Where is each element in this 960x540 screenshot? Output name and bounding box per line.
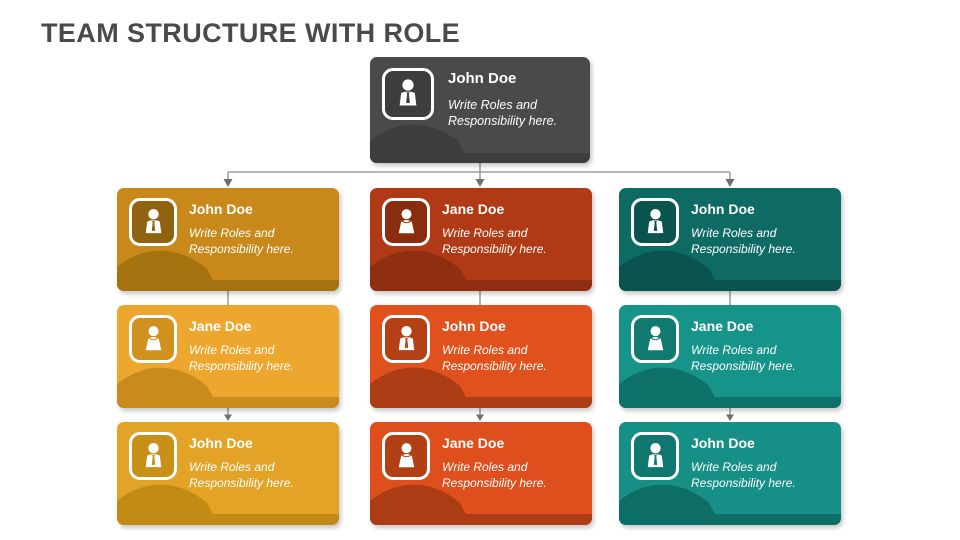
card-role-text: Write Roles and Responsibility here. bbox=[691, 460, 796, 492]
card-role-line1: Write Roles and bbox=[691, 460, 796, 476]
card-text-block: John Doe Write Roles and Responsibility … bbox=[691, 198, 796, 258]
card-text-block: John Doe Write Roles and Responsibility … bbox=[442, 315, 547, 375]
card-text-block: John Doe Write Roles and Responsibility … bbox=[448, 68, 557, 130]
org-card-middle-1[interactable]: John Doe Write Roles and Responsibility … bbox=[370, 305, 592, 408]
card-role-line2: Responsibility here. bbox=[189, 476, 294, 492]
org-card-left-2[interactable]: John Doe Write Roles and Responsibility … bbox=[117, 422, 339, 525]
card-role-line2: Responsibility here. bbox=[691, 242, 796, 258]
card-role-line2: Responsibility here. bbox=[442, 359, 547, 375]
org-card-right-2[interactable]: John Doe Write Roles and Responsibility … bbox=[619, 422, 841, 525]
card-person-name: John Doe bbox=[691, 436, 796, 451]
person-female-icon bbox=[382, 198, 430, 246]
card-person-name: Jane Doe bbox=[442, 436, 547, 451]
person-male-icon bbox=[382, 315, 430, 363]
card-text-block: John Doe Write Roles and Responsibility … bbox=[691, 432, 796, 492]
card-role-line1: Write Roles and bbox=[442, 460, 547, 476]
card-role-line2: Responsibility here. bbox=[189, 359, 294, 375]
card-role-line1: Write Roles and bbox=[189, 460, 294, 476]
slide-canvas: TEAM STRUCTURE WITH ROLE bbox=[0, 0, 960, 540]
card-text-block: Jane Doe Write Roles and Responsibility … bbox=[442, 432, 547, 492]
card-role-line1: Write Roles and bbox=[442, 343, 547, 359]
org-card-middle-2[interactable]: Jane Doe Write Roles and Responsibility … bbox=[370, 422, 592, 525]
person-male-icon bbox=[382, 68, 434, 120]
card-text-block: Jane Doe Write Roles and Responsibility … bbox=[189, 315, 294, 375]
person-female-icon bbox=[129, 315, 177, 363]
card-person-name: John Doe bbox=[189, 436, 294, 451]
org-card-right-1[interactable]: Jane Doe Write Roles and Responsibility … bbox=[619, 305, 841, 408]
card-role-line1: Write Roles and bbox=[189, 226, 294, 242]
card-person-name: John Doe bbox=[448, 71, 557, 88]
org-card-middle-0[interactable]: Jane Doe Write Roles and Responsibility … bbox=[370, 188, 592, 291]
card-person-name: John Doe bbox=[691, 202, 796, 217]
card-role-line1: Write Roles and bbox=[448, 97, 557, 114]
card-role-line2: Responsibility here. bbox=[442, 242, 547, 258]
card-person-name: John Doe bbox=[442, 319, 547, 334]
card-role-line1: Write Roles and bbox=[691, 226, 796, 242]
person-female-icon bbox=[631, 315, 679, 363]
card-role-text: Write Roles and Responsibility here. bbox=[189, 343, 294, 375]
card-person-name: John Doe bbox=[189, 202, 294, 217]
page-title: TEAM STRUCTURE WITH ROLE bbox=[41, 18, 460, 49]
card-text-block: John Doe Write Roles and Responsibility … bbox=[189, 198, 294, 258]
card-person-name: Jane Doe bbox=[442, 202, 547, 217]
card-role-text: Write Roles and Responsibility here. bbox=[189, 226, 294, 258]
card-role-text: Write Roles and Responsibility here. bbox=[691, 226, 796, 258]
person-male-icon bbox=[129, 198, 177, 246]
card-text-block: Jane Doe Write Roles and Responsibility … bbox=[691, 315, 796, 375]
person-male-icon bbox=[129, 432, 177, 480]
card-role-text: Write Roles and Responsibility here. bbox=[691, 343, 796, 375]
org-card-right-0[interactable]: John Doe Write Roles and Responsibility … bbox=[619, 188, 841, 291]
org-card-left-0[interactable]: John Doe Write Roles and Responsibility … bbox=[117, 188, 339, 291]
card-role-line2: Responsibility here. bbox=[189, 242, 294, 258]
org-card-root[interactable]: John Doe Write Roles and Responsibility … bbox=[370, 57, 590, 163]
person-male-icon bbox=[631, 198, 679, 246]
card-person-name: Jane Doe bbox=[189, 319, 294, 334]
card-role-text: Write Roles and Responsibility here. bbox=[442, 460, 547, 492]
card-role-line1: Write Roles and bbox=[691, 343, 796, 359]
card-text-block: John Doe Write Roles and Responsibility … bbox=[189, 432, 294, 492]
card-role-line2: Responsibility here. bbox=[442, 476, 547, 492]
org-card-left-1[interactable]: Jane Doe Write Roles and Responsibility … bbox=[117, 305, 339, 408]
card-role-text: Write Roles and Responsibility here. bbox=[442, 343, 547, 375]
card-role-line1: Write Roles and bbox=[189, 343, 294, 359]
card-role-text: Write Roles and Responsibility here. bbox=[448, 97, 557, 130]
card-text-block: Jane Doe Write Roles and Responsibility … bbox=[442, 198, 547, 258]
card-role-text: Write Roles and Responsibility here. bbox=[189, 460, 294, 492]
card-role-line2: Responsibility here. bbox=[691, 476, 796, 492]
card-role-line2: Responsibility here. bbox=[691, 359, 796, 375]
person-female-icon bbox=[382, 432, 430, 480]
person-male-icon bbox=[631, 432, 679, 480]
card-person-name: Jane Doe bbox=[691, 319, 796, 334]
card-role-line1: Write Roles and bbox=[442, 226, 547, 242]
card-role-text: Write Roles and Responsibility here. bbox=[442, 226, 547, 258]
card-role-line2: Responsibility here. bbox=[448, 113, 557, 130]
